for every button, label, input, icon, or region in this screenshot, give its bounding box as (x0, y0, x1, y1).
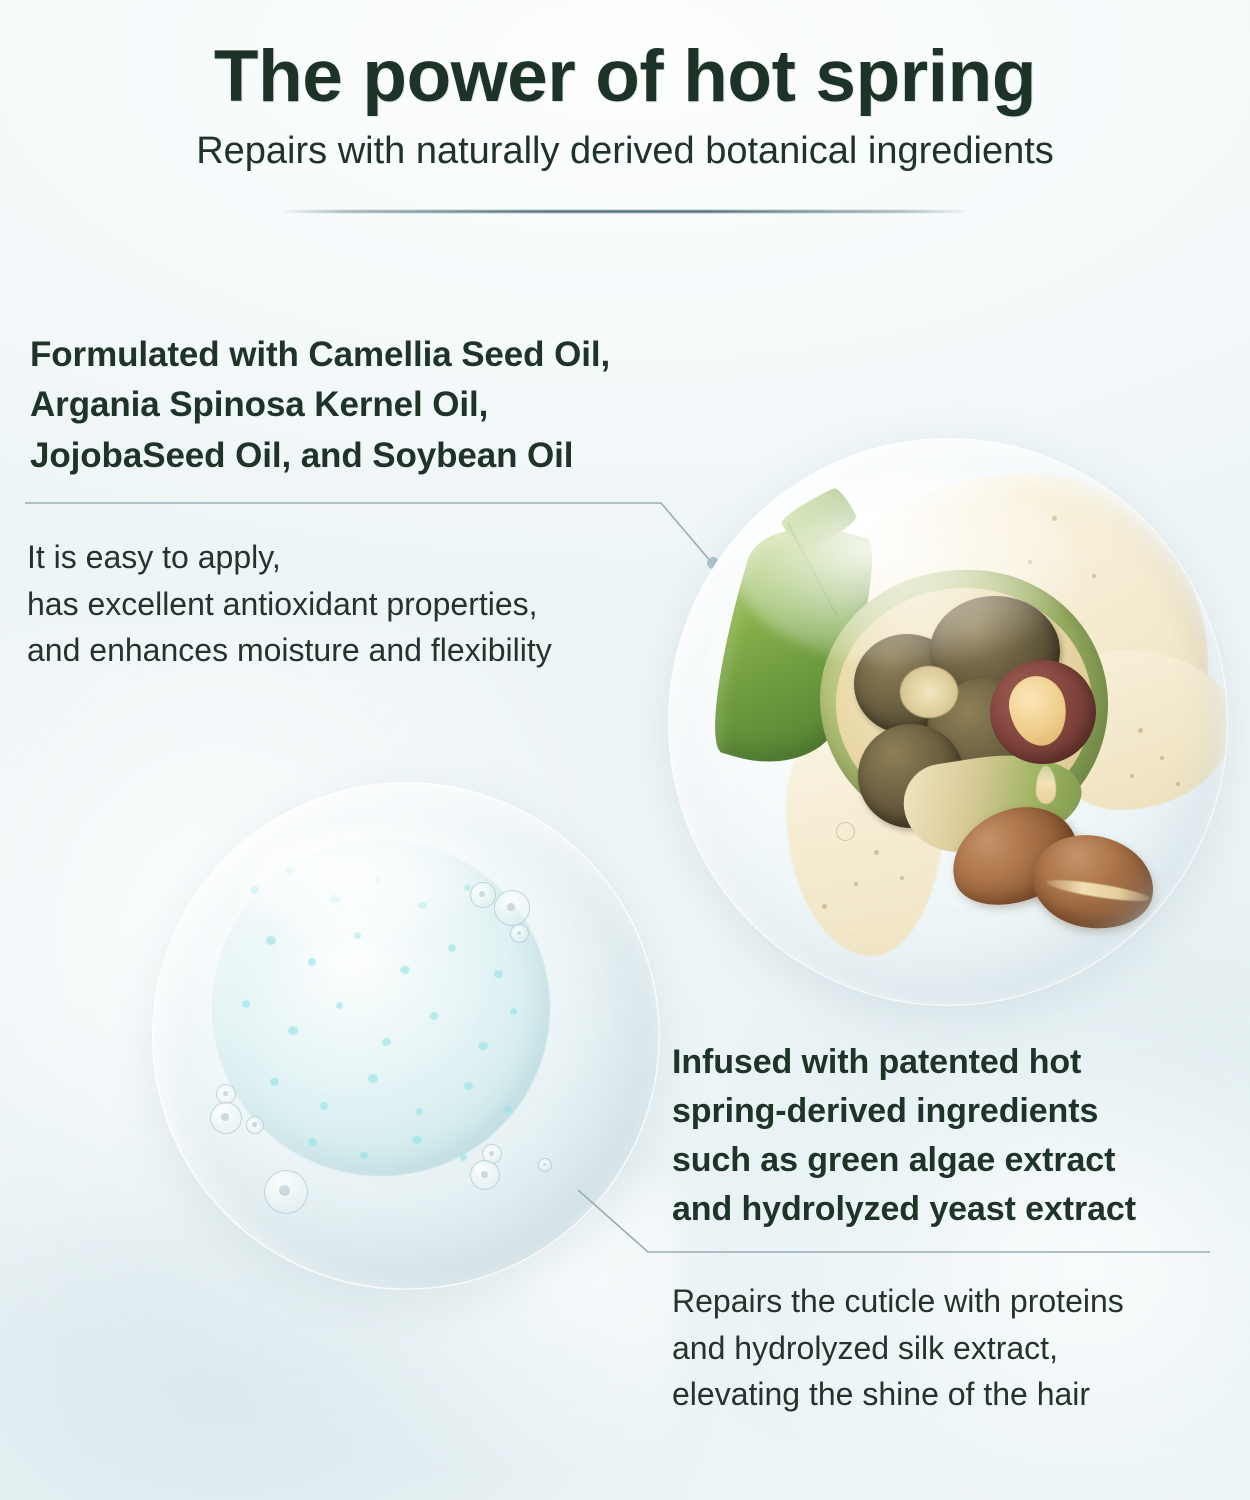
page-subtitle: Repairs with naturally derived botanical… (0, 129, 1250, 175)
page-title: The power of hot spring (0, 38, 1250, 117)
ingredient-bubble-image (668, 438, 1228, 1006)
oils-heading-text: Formulated with Camellia Seed Oil, Argan… (30, 330, 610, 481)
header: The power of hot spring Repairs with nat… (0, 38, 1250, 174)
bubble-rim (668, 438, 1228, 1006)
gel-bubble-image (152, 782, 660, 1290)
oils-body-text: It is easy to apply, has excellent antio… (27, 534, 552, 674)
product-feature-poster: The power of hot spring Repairs with nat… (0, 0, 1250, 1500)
hotspring-heading-text: Infused with patented hot spring-derived… (672, 1038, 1136, 1234)
hotspring-body-text: Repairs the cuticle with proteins and hy… (672, 1278, 1124, 1418)
gel-rim (152, 782, 660, 1290)
header-divider (278, 210, 972, 213)
